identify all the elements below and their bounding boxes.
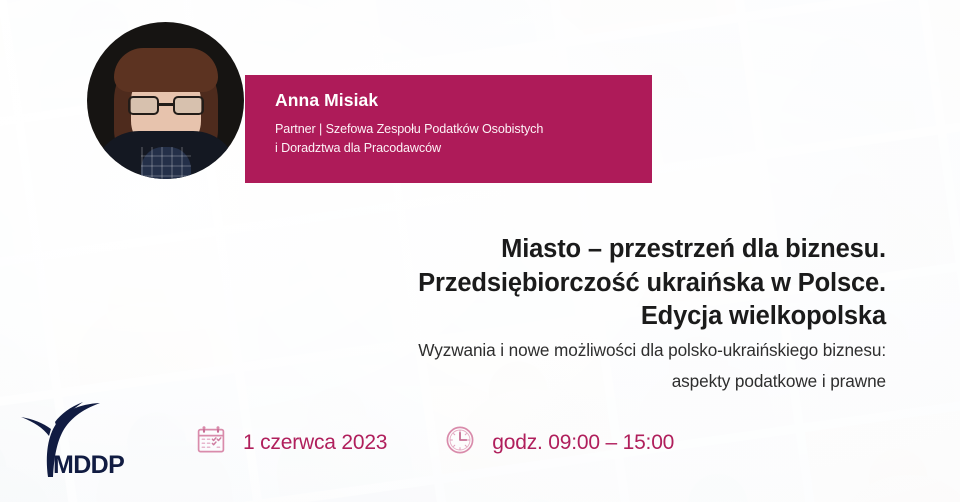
subtitle-line-1: Wyzwania i nowe możliwości dla polsko-uk… bbox=[266, 335, 886, 366]
event-date-text: 1 czerwca 2023 bbox=[243, 431, 387, 455]
clock-icon bbox=[445, 425, 475, 460]
page-subtitle: Wyzwania i nowe możliwości dla polsko-uk… bbox=[266, 335, 886, 396]
title-line-3: Edycja wielkopolska bbox=[326, 300, 886, 334]
portrait-collar bbox=[141, 147, 191, 179]
page-title: Miasto – przestrzeń dla biznesu. Przedsi… bbox=[326, 233, 886, 334]
event-poster: Anna Misiak Partner | Szefowa Zespołu Po… bbox=[0, 0, 960, 502]
title-line-1: Miasto – przestrzeń dla biznesu. bbox=[326, 233, 886, 267]
portrait-glasses bbox=[124, 96, 208, 115]
title-line-2: Przedsiębiorczość ukraińska w Polsce. bbox=[326, 267, 886, 301]
subtitle-line-2: aspekty podatkowe i prawne bbox=[266, 366, 886, 397]
event-date: 1 czerwca 2023 bbox=[196, 425, 387, 460]
mddp-logo: MDDP bbox=[18, 398, 138, 484]
speaker-role: Partner | Szefowa Zespołu Podatków Osobi… bbox=[275, 120, 635, 158]
portrait-glasses-bridge bbox=[159, 103, 173, 106]
mddp-logo-text: MDDP bbox=[53, 451, 124, 480]
speaker-name: Anna Misiak bbox=[275, 90, 378, 111]
event-meta-row: 1 czerwca 2023 godz. 09:00 – 15:00 bbox=[196, 425, 674, 460]
portrait-lens-right bbox=[173, 96, 204, 115]
speaker-role-line-2: i Doradztwa dla Pracodawców bbox=[275, 141, 441, 155]
event-time: godz. 09:00 – 15:00 bbox=[445, 425, 674, 460]
portrait-fringe bbox=[114, 48, 218, 92]
speaker-portrait bbox=[87, 22, 244, 179]
portrait-lens-left bbox=[128, 96, 159, 115]
speaker-role-line-1: Partner | Szefowa Zespołu Podatków Osobi… bbox=[275, 122, 543, 136]
event-time-text: godz. 09:00 – 15:00 bbox=[492, 431, 674, 455]
speaker-banner: Anna Misiak Partner | Szefowa Zespołu Po… bbox=[245, 75, 652, 183]
calendar-icon bbox=[196, 425, 226, 460]
